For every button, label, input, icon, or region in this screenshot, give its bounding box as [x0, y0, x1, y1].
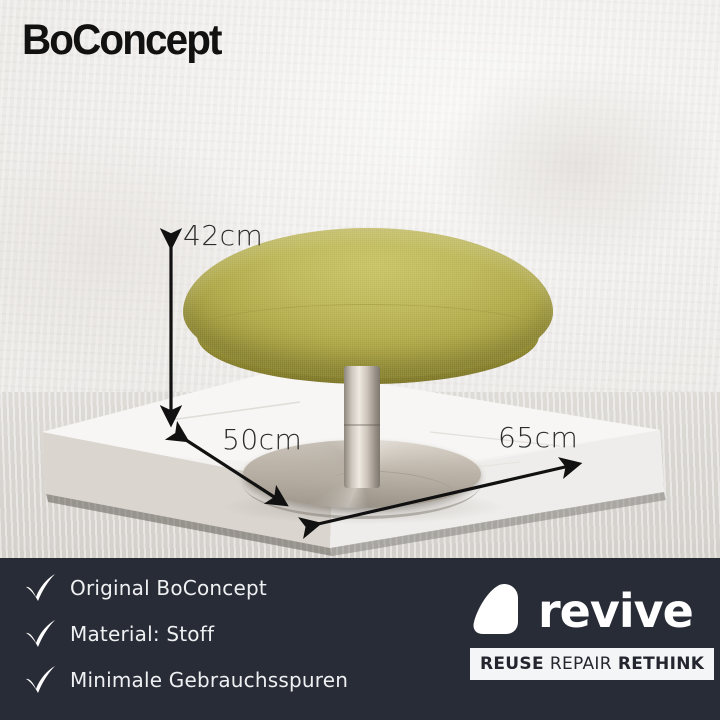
dimension-label-height: 42cm: [183, 219, 263, 252]
width-arrow: [318, 464, 578, 524]
feature-list: Original BoConcept Material: Stoff Minim…: [24, 568, 424, 706]
revive-logo: revive REUSE REPAIR RETHINK: [470, 580, 700, 680]
product-image-card: 42cm 50cm 65cm BoConcept Original BoConc…: [0, 0, 720, 720]
revive-tagline: REUSE REPAIR RETHINK: [470, 648, 714, 680]
tagline-reuse: REUSE: [480, 654, 544, 674]
list-item: Original BoConcept: [24, 568, 424, 608]
feature-text: Minimale Gebrauchsspuren: [70, 668, 348, 692]
tagline-repair: REPAIR: [550, 654, 612, 674]
feature-text: Original BoConcept: [70, 576, 267, 600]
dimension-label-width: 65cm: [498, 421, 578, 454]
check-icon: [24, 573, 70, 603]
dimension-arrows: [0, 0, 720, 558]
product-photo: 42cm 50cm 65cm BoConcept: [0, 0, 720, 558]
leaf-icon: [470, 580, 528, 643]
revive-wordmark: revive: [538, 588, 693, 634]
check-icon: [24, 619, 70, 649]
feature-text: Material: Stoff: [70, 622, 214, 646]
check-icon: [24, 665, 70, 695]
list-item: Minimale Gebrauchsspuren: [24, 660, 424, 700]
tagline-rethink: RETHINK: [618, 654, 704, 674]
list-item: Material: Stoff: [24, 614, 424, 654]
dimension-label-depth: 50cm: [222, 423, 302, 456]
info-bar: Original BoConcept Material: Stoff Minim…: [0, 558, 720, 720]
brand-logo: BoConcept: [22, 16, 221, 65]
